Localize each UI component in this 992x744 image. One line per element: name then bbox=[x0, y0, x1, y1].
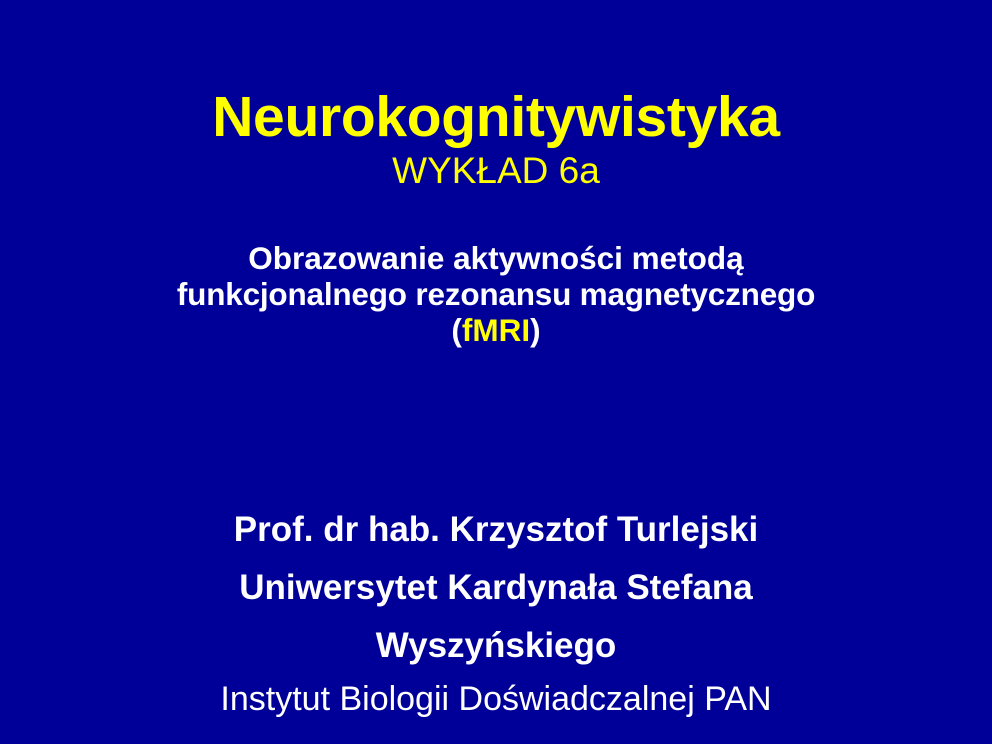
topic-line-1: Obrazowanie aktywności metodą bbox=[0, 240, 992, 276]
paren-close: ) bbox=[530, 312, 541, 348]
topic-acronym-line: (fMRI) bbox=[0, 312, 992, 348]
affiliation-line-2: Wyszyńskiego bbox=[0, 617, 992, 675]
presentation-slide: Neurokognitywistyka WYKŁAD 6a Obrazowani… bbox=[0, 0, 992, 744]
author-block: Prof. dr hab. Krzysztof Turlejski Uniwer… bbox=[0, 501, 992, 723]
lecture-number-label: WYKŁAD 6a bbox=[0, 148, 992, 194]
paren-open: ( bbox=[451, 312, 462, 348]
acronym-fmri: fMRI bbox=[462, 312, 530, 348]
topic-line-2: funkcjonalnego rezonansu magnetycznego bbox=[0, 276, 992, 312]
affiliation-line-1: Uniwersytet Kardynała Stefana bbox=[0, 559, 992, 617]
topic-block: Obrazowanie aktywności metodą funkcjonal… bbox=[0, 240, 992, 348]
institute-name: Instytut Biologii Doświadczalnej PAN bbox=[0, 675, 992, 723]
page-title: Neurokognitywistyka bbox=[0, 86, 992, 148]
author-name: Prof. dr hab. Krzysztof Turlejski bbox=[0, 501, 992, 559]
title-block: Neurokognitywistyka WYKŁAD 6a bbox=[0, 86, 992, 194]
